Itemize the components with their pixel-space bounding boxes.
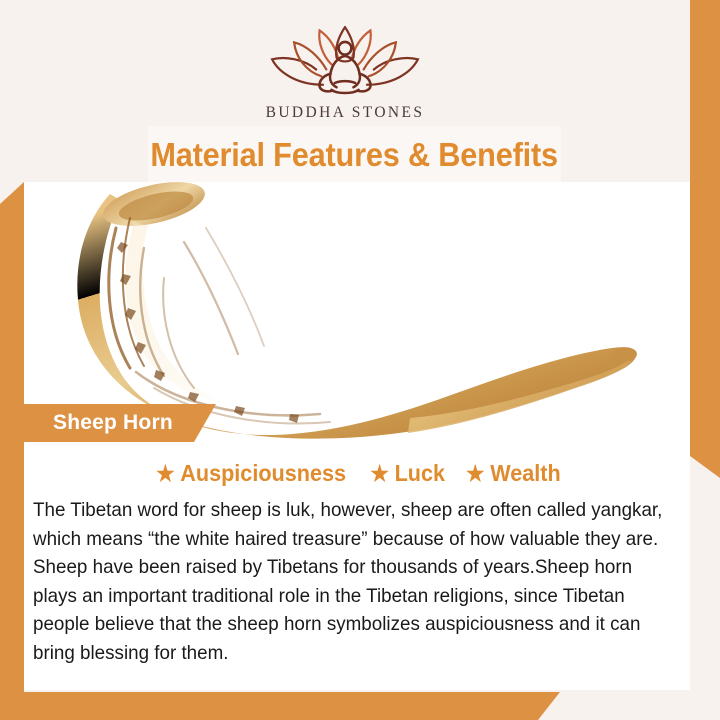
product-label-text: Sheep Horn: [53, 411, 173, 435]
benefits-row: ★ Auspiciousness ★ Luck ★ Wealth: [24, 443, 690, 487]
brand-logo: BUDDHA STONES: [0, 22, 690, 122]
product-label-ribbon: Sheep Horn: [24, 404, 216, 442]
poster-root: BUDDHA STONES Material Features & Benefi…: [0, 0, 720, 720]
description-text: The Tibetan word for sheep is luk, howev…: [33, 497, 671, 668]
star-icon: ★: [466, 463, 485, 485]
benefit-label: Auspiciousness: [180, 460, 346, 487]
star-icon: ★: [370, 463, 389, 485]
lotus-meditation-figure-icon: [260, 22, 430, 100]
frame-bottom-band: [0, 692, 560, 720]
benefit-label: Luck: [395, 460, 445, 487]
benefit-wealth: ★ Wealth: [466, 460, 561, 487]
frame-right-bar: [690, 0, 720, 478]
sheep-horn-illustration: [24, 182, 690, 443]
header: BUDDHA STONES Material Features & Benefi…: [0, 0, 690, 182]
page-title-plate: Material Features & Benefits: [148, 126, 561, 184]
brand-name: BUDDHA STONES: [266, 104, 425, 122]
benefit-auspiciousness: ★ Auspiciousness: [156, 460, 346, 487]
benefit-luck: ★ Luck: [370, 460, 445, 487]
frame-left-bar: [0, 182, 24, 720]
benefit-label: Wealth: [491, 460, 561, 487]
page-title: Material Features & Benefits: [151, 136, 559, 174]
product-image: [24, 182, 690, 443]
description-panel: ★ Auspiciousness ★ Luck ★ Wealth The Tib…: [24, 443, 690, 690]
star-icon: ★: [156, 463, 175, 485]
